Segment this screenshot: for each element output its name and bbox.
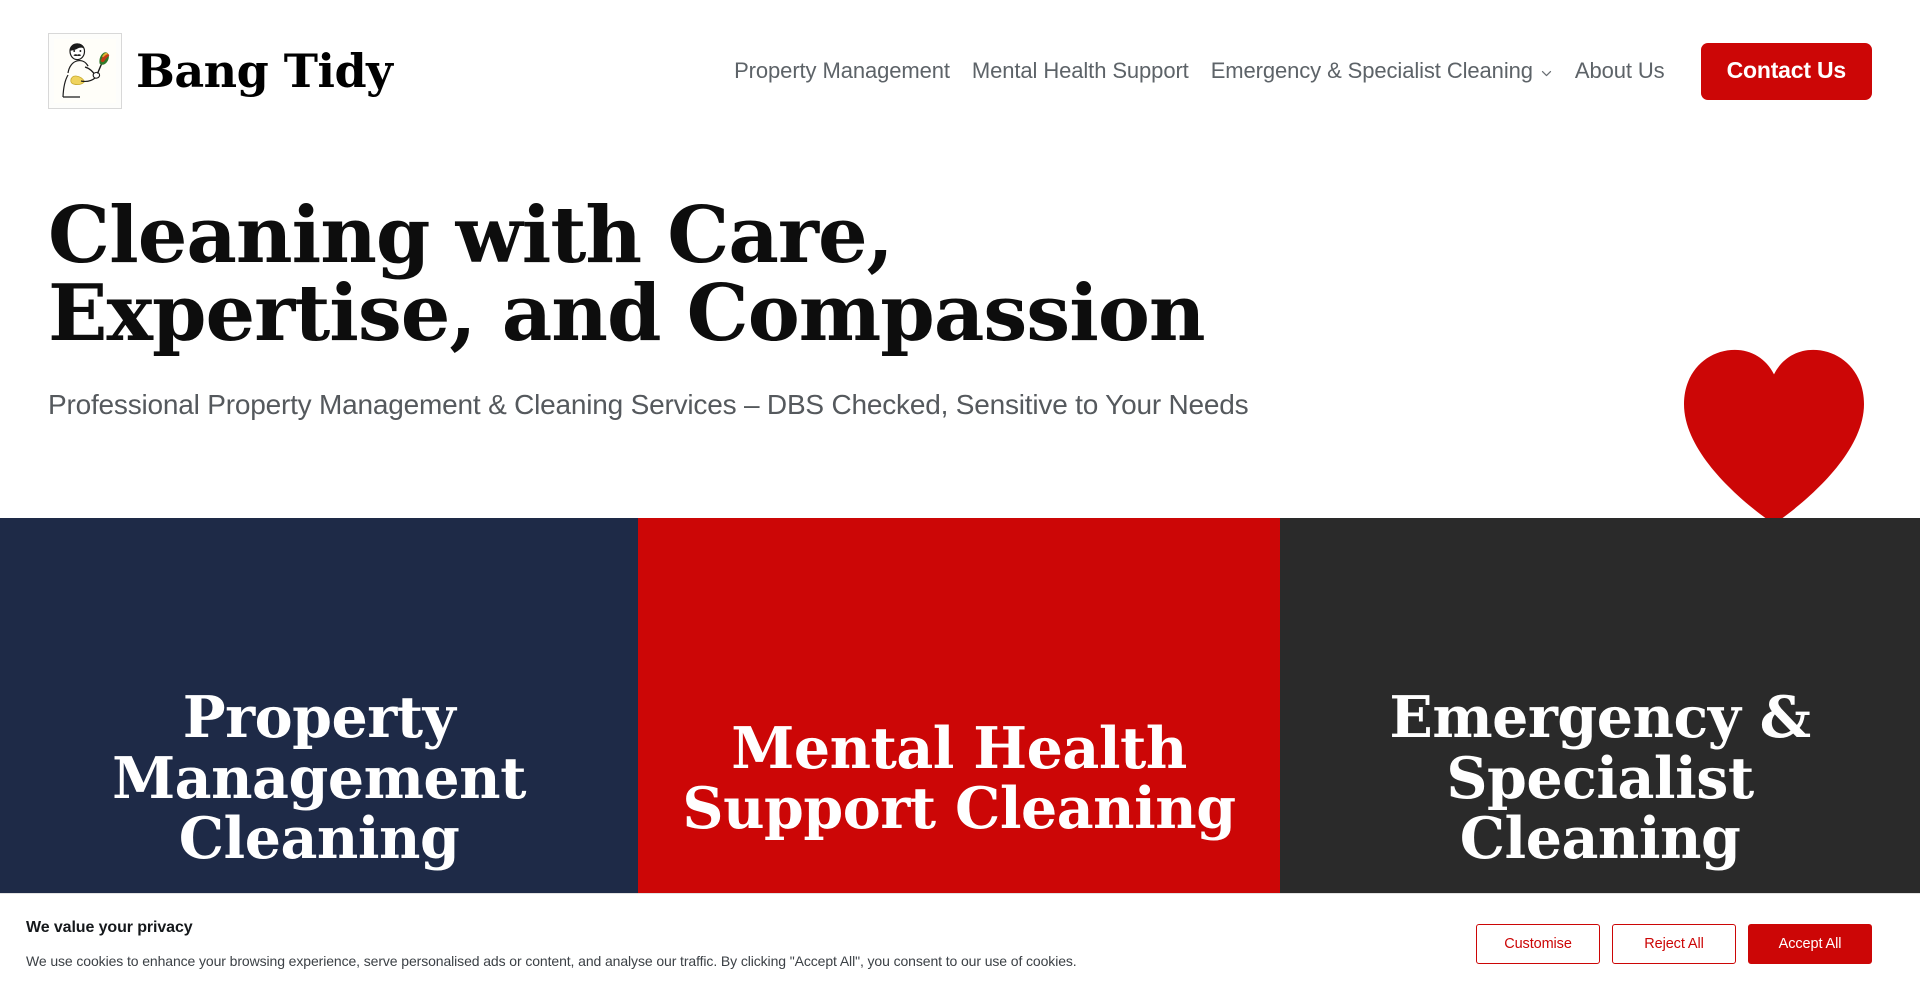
contact-us-button[interactable]: Contact Us (1701, 43, 1872, 100)
nav-item-emergency-specialist-cleaning-label[interactable]: Emergency & Specialist Cleaning (1211, 58, 1533, 84)
nav-item-mental-health-support[interactable]: Mental Health Support (972, 58, 1189, 84)
page-root: Bang Tidy Property Management Mental Hea… (0, 0, 1920, 993)
service-panel-property-management[interactable]: Property Management Cleaning (0, 518, 638, 920)
cookie-consent-text-block: We value your privacy We use cookies to … (26, 919, 1476, 969)
brand-name: Bang Tidy (136, 48, 392, 94)
hero-title-line-2: Expertise, and Compassion (48, 268, 1205, 359)
service-panel-title: Property Management Cleaning (20, 688, 618, 869)
reject-all-cookies-button[interactable]: Reject All (1612, 924, 1736, 964)
cookie-consent-banner: We value your privacy We use cookies to … (0, 893, 1920, 993)
customise-cookies-button[interactable]: Customise (1476, 924, 1600, 964)
brand-logo-link[interactable]: Bang Tidy (48, 33, 392, 109)
nav-item-emergency-specialist-cleaning[interactable]: Emergency & Specialist Cleaning (1211, 58, 1553, 84)
cookie-consent-title: We value your privacy (26, 919, 1476, 937)
service-panels: Property Management Cleaning Mental Heal… (0, 518, 1920, 920)
bang-tidy-mascot-icon (48, 33, 122, 109)
service-panel-mental-health-support[interactable]: Mental Health Support Cleaning (638, 518, 1280, 920)
hero-subtitle: Professional Property Management & Clean… (48, 389, 1872, 421)
page-title: Cleaning with Care, Expertise, and Compa… (48, 197, 1338, 353)
nav-item-property-management[interactable]: Property Management (734, 58, 950, 84)
service-panel-title: Emergency & Specialist Cleaning (1300, 688, 1900, 869)
main-navigation: Property Management Mental Health Suppor… (734, 43, 1872, 100)
hero-section: Cleaning with Care, Expertise, and Compa… (0, 142, 1920, 518)
accept-all-cookies-button[interactable]: Accept All (1748, 924, 1872, 964)
chevron-down-icon[interactable] (1540, 67, 1553, 80)
cookie-consent-description: We use cookies to enhance your browsing … (26, 953, 1476, 969)
nav-item-about-us[interactable]: About Us (1575, 58, 1665, 84)
service-panel-title: Mental Health Support Cleaning (658, 719, 1260, 840)
service-panel-emergency-specialist[interactable]: Emergency & Specialist Cleaning (1280, 518, 1920, 920)
cookie-consent-actions: Customise Reject All Accept All (1476, 924, 1872, 964)
site-header: Bang Tidy Property Management Mental Hea… (0, 0, 1920, 142)
heart-icon (1676, 344, 1872, 524)
